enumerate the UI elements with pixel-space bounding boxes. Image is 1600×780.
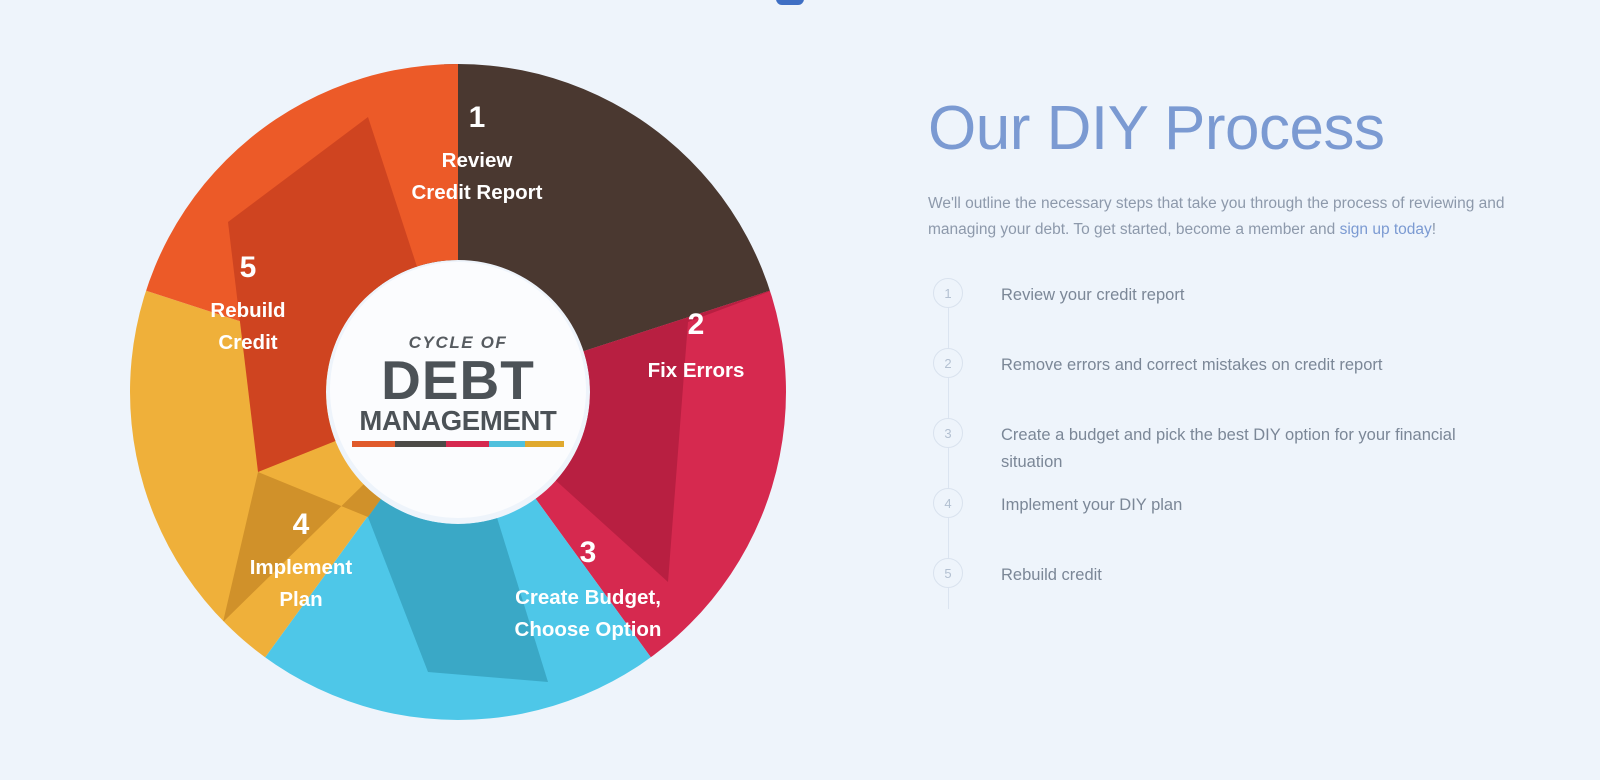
logo-title: DEBT	[381, 354, 535, 406]
list-item[interactable]: 4 Implement your DIY plan	[928, 487, 1512, 557]
step-number-badge: 3	[928, 417, 968, 449]
logo-color-bar	[352, 441, 564, 447]
step-label: Implement your DIY plan	[968, 487, 1182, 519]
logo-bar-swatch-5	[525, 441, 564, 447]
sign-up-today-link[interactable]: sign up today	[1340, 221, 1432, 238]
svg-text:Implement: Implement	[250, 556, 353, 579]
svg-text:3: 3	[580, 536, 597, 569]
logo-subtitle: MANAGEMENT	[359, 407, 556, 435]
svg-text:Create Budget,: Create Budget,	[515, 586, 661, 609]
step-number: 1	[933, 278, 963, 308]
svg-text:Credit: Credit	[218, 331, 277, 354]
intro-paragraph: We'll outline the necessary steps that t…	[928, 191, 1508, 243]
step-label: Create a budget and pick the best DIY op…	[968, 417, 1508, 475]
logo-bar-swatch-2	[395, 441, 446, 447]
svg-text:Choose Option: Choose Option	[515, 618, 662, 641]
svg-text:Plan: Plan	[279, 588, 322, 611]
intro-text-after: !	[1432, 221, 1436, 238]
svg-text:4: 4	[293, 508, 310, 541]
step-number-badge: 1	[928, 277, 968, 309]
logo-bar-swatch-1	[352, 441, 395, 447]
step-label: Review your credit report	[968, 277, 1184, 309]
step-number: 3	[933, 418, 963, 448]
diy-process-panel: Our DIY Process We'll outline the necess…	[928, 96, 1512, 627]
page-root: 1 Review Credit Report 2 Fix Errors 3 Cr…	[0, 0, 1600, 780]
svg-text:Credit Report: Credit Report	[412, 181, 543, 204]
svg-text:5: 5	[240, 251, 257, 284]
svg-text:Fix Errors: Fix Errors	[648, 359, 745, 382]
list-item[interactable]: 5 Rebuild credit	[928, 557, 1512, 627]
list-item[interactable]: 2 Remove errors and correct mistakes on …	[928, 347, 1512, 417]
step-number-badge: 5	[928, 557, 968, 589]
debt-management-cycle-wheel: 1 Review Credit Report 2 Fix Errors 3 Cr…	[128, 62, 788, 722]
svg-text:2: 2	[688, 308, 705, 341]
scroll-indicator-nub	[776, 0, 804, 5]
step-number: 4	[933, 488, 963, 518]
step-number: 2	[933, 348, 963, 378]
svg-text:1: 1	[469, 101, 486, 134]
logo-bar-swatch-4	[489, 441, 524, 447]
step-number-badge: 4	[928, 487, 968, 519]
cycle-of-debt-management-logo: CYCLE OF DEBT MANAGEMENT	[330, 262, 586, 518]
svg-text:Rebuild: Rebuild	[210, 299, 285, 322]
svg-text:Review: Review	[442, 149, 513, 172]
logo-bar-swatch-3	[446, 441, 489, 447]
list-item[interactable]: 3 Create a budget and pick the best DIY …	[928, 417, 1512, 487]
list-item[interactable]: 1 Review your credit report	[928, 277, 1512, 347]
step-number: 5	[933, 558, 963, 588]
step-label: Remove errors and correct mistakes on cr…	[968, 347, 1382, 379]
step-label: Rebuild credit	[968, 557, 1102, 589]
page-title: Our DIY Process	[928, 96, 1512, 161]
process-step-list: 1 Review your credit report 2 Remove err…	[928, 277, 1512, 627]
step-number-badge: 2	[928, 347, 968, 379]
